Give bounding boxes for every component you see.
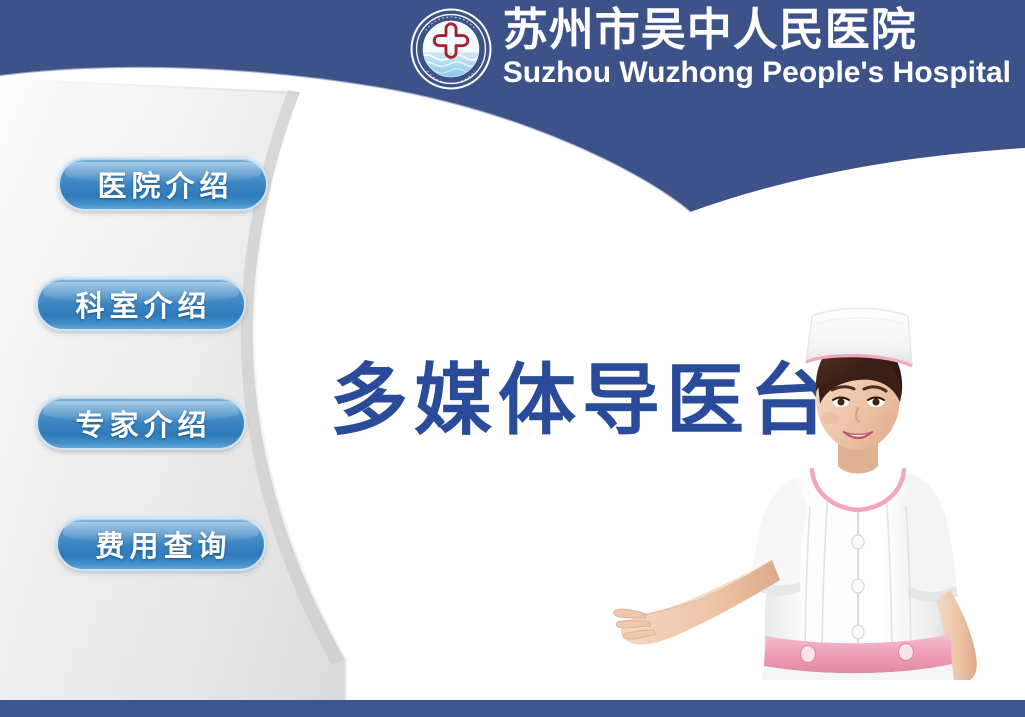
hospital-logo-icon [409, 7, 493, 91]
sidebar-item-hospital-intro[interactable]: 医院介绍 [58, 157, 268, 211]
hospital-name-cn: 苏州市吴中人民医院 [503, 4, 917, 56]
brand-lockup: 苏州市吴中人民医院 Suzhou Wuzhong People's Hospit… [409, 4, 1011, 91]
sidebar-item-department-intro[interactable]: 科室介绍 [36, 277, 246, 331]
page-title: 多媒体导医台 [330, 358, 834, 444]
sidebar-item-expert-intro[interactable]: 专家介绍 [36, 396, 246, 450]
sidebar-item-label: 费用查询 [90, 523, 231, 565]
sidebar-item-label: 专家介绍 [70, 402, 211, 444]
sidebar-item-label: 医院介绍 [92, 163, 233, 205]
sidebar-menu: 医院介绍 科室介绍 专家介绍 费用查询 [0, 0, 330, 717]
brand-text-block: 苏州市吴中人民医院 Suzhou Wuzhong People's Hospit… [503, 4, 1011, 90]
kiosk-screen: 苏州市吴中人民医院 Suzhou Wuzhong People's Hospit… [0, 0, 1025, 717]
sidebar-item-label: 科室介绍 [70, 283, 211, 325]
sidebar-item-fee-inquiry[interactable]: 费用查询 [56, 517, 266, 571]
hospital-name-en: Suzhou Wuzhong People's Hospital [503, 56, 1011, 90]
footer-bar [0, 700, 1025, 717]
